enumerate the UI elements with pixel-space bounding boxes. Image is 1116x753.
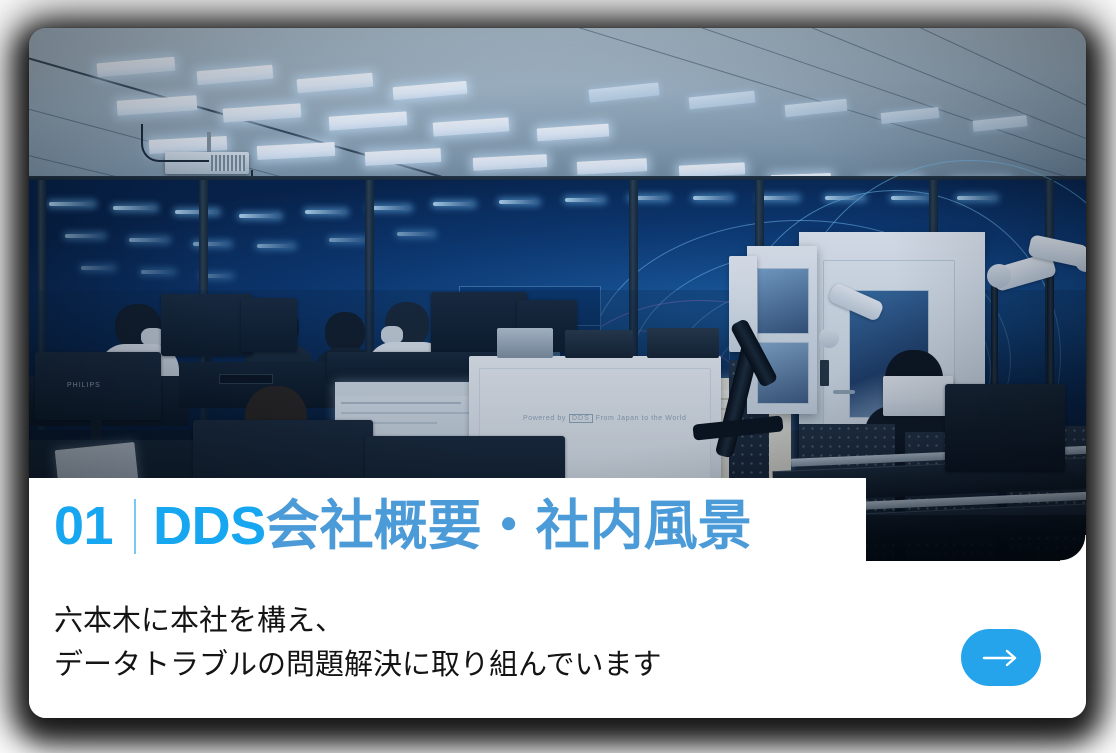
content-card: Operating 52 Emergency 0 Storage 8 Runni… (29, 28, 1086, 718)
arrow-right-icon (982, 648, 1020, 668)
next-arrow-button[interactable] (961, 629, 1041, 686)
clean-room-enclosure-2 (747, 246, 817, 414)
title-divider (134, 499, 136, 554)
page-background: Operating 52 Emergency 0 Storage 8 Runni… (0, 0, 1116, 753)
card-body: 六本木に本社を構え、 データトラブルの問題解決に取り組んでいます (29, 561, 1086, 718)
section-number: 01 (54, 499, 113, 553)
title-latin: DDS (153, 499, 266, 553)
title-japanese: 会社概要・社内風景 (266, 499, 752, 553)
brand-prefix: Powered by (523, 415, 566, 422)
description-line-2: データトラブルの問題解決に取り組んでいます (54, 642, 662, 686)
description-text: 六本木に本社を構え、 データトラブルの問題解決に取り組んでいます (54, 598, 662, 686)
section-title: 01 DDS 会社概要・社内風景 (54, 490, 752, 562)
brand-mark: DDS (569, 414, 593, 423)
machine-brand-text: Powered byDDSFrom Japan to the World (523, 414, 686, 423)
description-line-1: 六本木に本社を構え、 (54, 598, 662, 642)
brand-suffix: From Japan to the World (596, 415, 687, 422)
